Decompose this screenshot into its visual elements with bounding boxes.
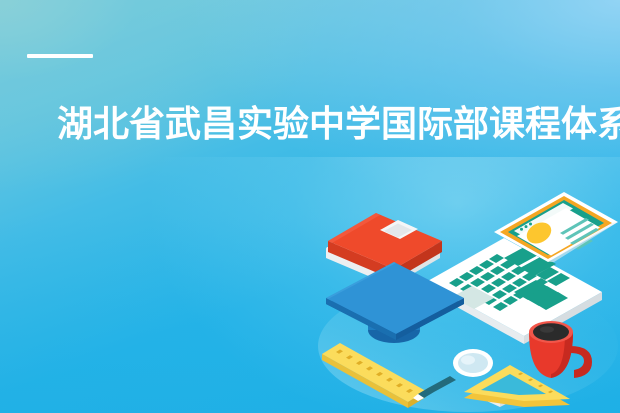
accent-rule bbox=[27, 54, 93, 58]
education-desk-illustration bbox=[318, 186, 620, 413]
page-title: 湖北省武昌实验中学国际部课程体系 bbox=[57, 105, 620, 145]
banner-root: 湖北省武昌实验中学国际部课程体系 bbox=[0, 0, 620, 413]
